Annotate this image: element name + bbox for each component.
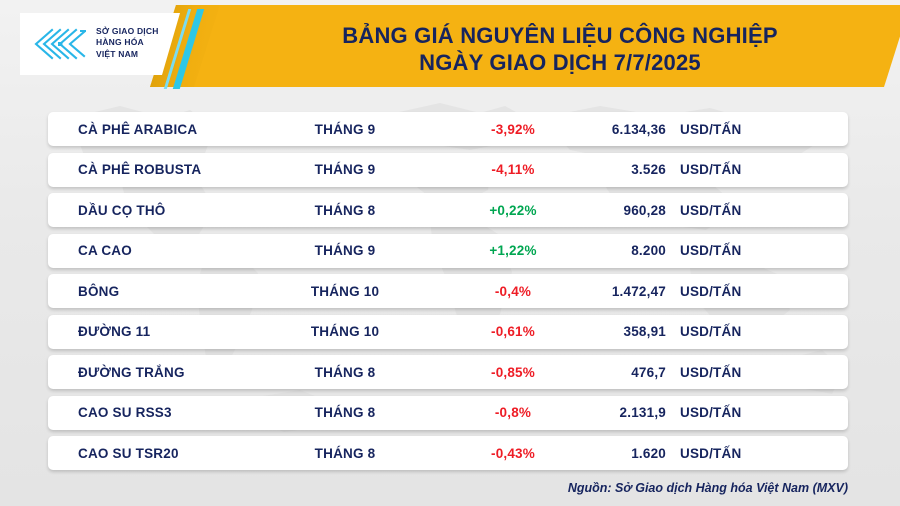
table-row[interactable]: ĐƯỜNG TRẮNGTHÁNG 8-0,85%476,7USD/TẤN xyxy=(48,355,848,389)
logo-line-3: VIỆT NAM xyxy=(96,49,159,60)
price-value: 3.526 xyxy=(548,162,666,177)
table-row[interactable]: CAO SU TSR20THÁNG 8-0,43%1.620USD/TẤN xyxy=(48,436,848,470)
contract-month: THÁNG 8 xyxy=(280,203,410,218)
price-unit: USD/TẤN xyxy=(680,243,741,258)
commodity-name: CAO SU RSS3 xyxy=(78,405,172,420)
table-row[interactable]: CA CAOTHÁNG 9+1,22%8.200USD/TẤN xyxy=(48,234,848,268)
table-row[interactable]: DẦU CỌ THÔTHÁNG 8+0,22%960,28USD/TẤN xyxy=(48,193,848,227)
logo-line-2: HÀNG HÓA xyxy=(96,37,159,48)
commodity-name: CA CAO xyxy=(78,243,132,258)
logo-line-1: SỞ GIAO DỊCH xyxy=(96,26,159,37)
price-unit: USD/TẤN xyxy=(680,405,741,420)
price-value: 1.472,47 xyxy=(548,284,666,299)
table-row[interactable]: BÔNGTHÁNG 10-0,4%1.472,47USD/TẤN xyxy=(48,274,848,308)
title-line-1: BẢNG GIÁ NGUYÊN LIỆU CÔNG NGHIỆP xyxy=(342,22,777,49)
commodity-name: CÀ PHÊ ROBUSTA xyxy=(78,162,201,177)
price-table: CÀ PHÊ ARABICATHÁNG 9-3,92%6.134,36USD/T… xyxy=(48,112,848,477)
mxv-maze-logo-icon xyxy=(32,27,88,61)
commodity-name: CÀ PHÊ ARABICA xyxy=(78,122,197,137)
price-value: 358,91 xyxy=(548,324,666,339)
contract-month: THÁNG 9 xyxy=(280,162,410,177)
contract-month: THÁNG 10 xyxy=(280,284,410,299)
price-unit: USD/TẤN xyxy=(680,203,741,218)
price-value: 8.200 xyxy=(548,243,666,258)
logo-wordmark: SỞ GIAO DỊCH HÀNG HÓA VIỆT NAM xyxy=(96,26,159,60)
price-unit: USD/TẤN xyxy=(680,365,741,380)
price-value: 1.620 xyxy=(548,446,666,461)
commodity-name: DẦU CỌ THÔ xyxy=(78,203,166,218)
price-unit: USD/TẤN xyxy=(680,446,741,461)
price-value: 476,7 xyxy=(548,365,666,380)
page-root: SỞ GIAO DỊCH HÀNG HÓA VIỆT NAM BẢNG GIÁ … xyxy=(0,0,900,506)
commodity-name: BÔNG xyxy=(78,284,119,299)
commodity-name: ĐƯỜNG TRẮNG xyxy=(78,365,185,380)
contract-month: THÁNG 8 xyxy=(280,405,410,420)
table-row[interactable]: CÀ PHÊ ARABICATHÁNG 9-3,92%6.134,36USD/T… xyxy=(48,112,848,146)
price-unit: USD/TẤN xyxy=(680,162,741,177)
commodity-name: CAO SU TSR20 xyxy=(78,446,179,461)
contract-month: THÁNG 8 xyxy=(280,365,410,380)
price-unit: USD/TẤN xyxy=(680,284,741,299)
page-header: SỞ GIAO DỊCH HÀNG HÓA VIỆT NAM BẢNG GIÁ … xyxy=(0,5,900,87)
price-value: 6.134,36 xyxy=(548,122,666,137)
source-note: Nguồn: Sở Giao dịch Hàng hóa Việt Nam (M… xyxy=(568,481,848,495)
table-row[interactable]: CÀ PHÊ ROBUSTATHÁNG 9-4,11%3.526USD/TẤN xyxy=(48,153,848,187)
logo-card: SỞ GIAO DỊCH HÀNG HÓA VIỆT NAM xyxy=(20,13,180,75)
contract-month: THÁNG 8 xyxy=(280,446,410,461)
contract-month: THÁNG 9 xyxy=(280,122,410,137)
contract-month: THÁNG 10 xyxy=(280,324,410,339)
title-line-2: NGÀY GIAO DỊCH 7/7/2025 xyxy=(419,49,701,76)
price-value: 2.131,9 xyxy=(548,405,666,420)
price-unit: USD/TẤN xyxy=(680,122,741,137)
table-row[interactable]: ĐƯỜNG 11THÁNG 10-0,61%358,91USD/TẤN xyxy=(48,315,848,349)
commodity-name: ĐƯỜNG 11 xyxy=(78,324,150,339)
price-value: 960,28 xyxy=(548,203,666,218)
page-title: BẢNG GIÁ NGUYÊN LIỆU CÔNG NGHIỆP NGÀY GI… xyxy=(230,13,890,85)
table-row[interactable]: CAO SU RSS3THÁNG 8-0,8%2.131,9USD/TẤN xyxy=(48,396,848,430)
price-unit: USD/TẤN xyxy=(680,324,741,339)
contract-month: THÁNG 9 xyxy=(280,243,410,258)
